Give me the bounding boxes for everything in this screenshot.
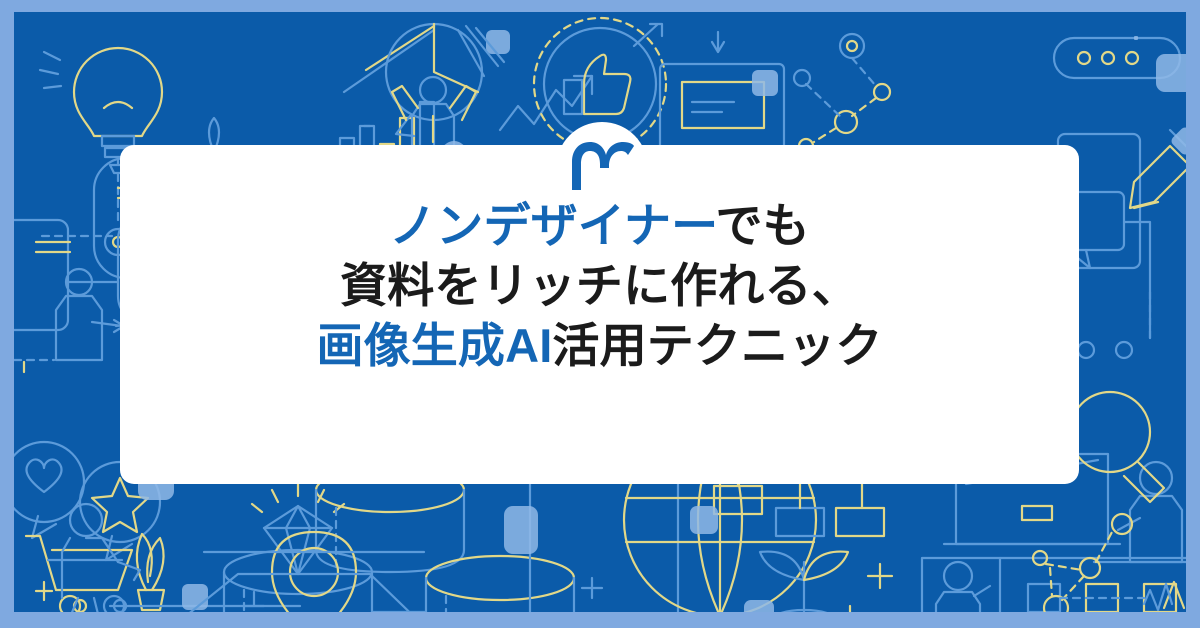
- decor-tiles: [1134, 36, 1138, 40]
- diamond-icon: [244, 482, 344, 606]
- title-line-2: 資料をリッチに作れる、: [120, 256, 1079, 316]
- ogp-banner: .lb { fill:none; stroke:#5C9BDA; stroke-…: [0, 0, 1200, 628]
- title-line-1-blue: ノンデザイナー: [389, 199, 715, 252]
- m-logo-mark: [569, 140, 635, 192]
- page-title: ノンデザイナーでも 資料をリッチに作れる、 画像生成AI活用テクニック: [120, 196, 1079, 376]
- title-line-1: ノンデザイナーでも: [120, 196, 1079, 256]
- magnifier-icon: [1070, 392, 1164, 502]
- title-line-3-blue: 画像生成AI: [316, 319, 552, 372]
- pie-chart-icon: [386, 24, 504, 136]
- title-line-1-dark: でも: [716, 199, 810, 252]
- title-line-3: 画像生成AI活用テクニック: [120, 316, 1079, 376]
- heart-bubble-icon: [14, 442, 84, 538]
- pill-toggle-icon: [1054, 38, 1186, 92]
- waveform-icon: [1060, 582, 1184, 610]
- title-line-3-dark: 活用テクニック: [552, 319, 882, 372]
- growth-arrow-icon: [500, 76, 592, 130]
- screens-row-icon: [922, 558, 1186, 612]
- seedling-icon: [744, 552, 848, 612]
- diagonal-lines-decor: [344, 26, 510, 92]
- title-line-2-dark: 資料をリッチに作れる、: [340, 259, 859, 312]
- node-network-icon: [794, 34, 890, 153]
